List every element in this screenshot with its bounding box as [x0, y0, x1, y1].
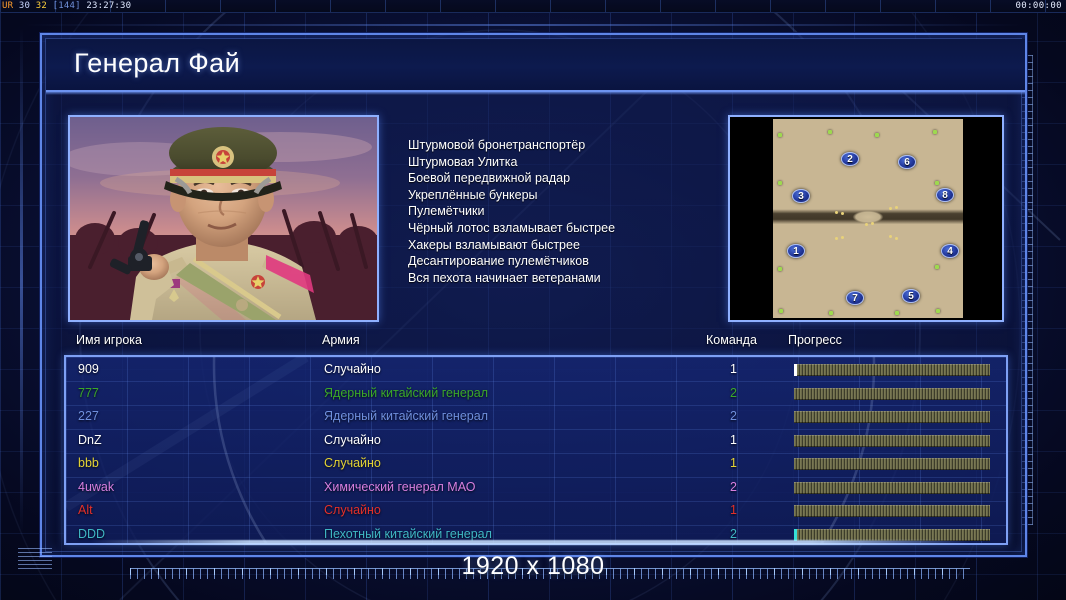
map-gold-marker [895, 237, 898, 240]
map-resource-marker [935, 181, 939, 185]
map-gold-marker [835, 237, 838, 240]
progress-bar-tip [794, 529, 797, 541]
map-gold-marker [889, 207, 892, 210]
player-name: bbb [78, 456, 99, 470]
column-header-player-name: Имя игрока [76, 333, 142, 347]
player-table: 909Случайно1777Ядерный китайский генерал… [64, 355, 1008, 545]
map-gold-marker [841, 212, 844, 215]
fps-value: 30 [19, 1, 30, 11]
map-start-position-8[interactable]: 8 [936, 188, 954, 202]
map-gold-marker [889, 235, 892, 238]
map-gold-marker [895, 206, 898, 209]
player-progress-bar [794, 411, 990, 423]
map-start-position-4[interactable]: 4 [941, 244, 959, 258]
player-army[interactable]: Ядерный китайский генерал [324, 409, 488, 423]
player-army[interactable]: Ядерный китайский генерал [324, 386, 488, 400]
map-resource-marker [895, 311, 899, 315]
player-army[interactable]: Случайно [324, 433, 381, 447]
ability-item: Пулемётчики [408, 203, 738, 220]
general-portrait-image [70, 117, 377, 320]
player-table-header: Имя игрока Армия Команда Прогресс [68, 333, 1004, 355]
map-river [773, 203, 963, 231]
ability-item: Штурмовой бронетранспортёр [408, 137, 738, 154]
main-panel: Генерал Фай [40, 33, 1027, 557]
bottom-sheen-decoration [90, 540, 970, 545]
map-resource-marker [779, 309, 783, 313]
table-row[interactable]: DnZСлучайно1 [66, 430, 1006, 454]
player-progress-bar [794, 435, 990, 447]
map-resource-marker [829, 311, 833, 315]
map-gold-marker [835, 211, 838, 214]
map-resource-marker [933, 130, 937, 134]
table-row[interactable]: 909Случайно1 [66, 359, 1006, 383]
map-resource-marker [778, 267, 782, 271]
map-start-position-6[interactable]: 6 [898, 155, 916, 169]
top-status-bar: UR 30 32 [144] 23:27:30 00:00:00 [0, 0, 1066, 13]
map-resource-marker [935, 265, 939, 269]
ability-item: Боевой передвижной радар [408, 170, 738, 187]
table-row[interactable]: 777Ядерный китайский генерал2 [66, 383, 1006, 407]
map-preview[interactable]: 12345678 [728, 115, 1004, 322]
player-progress-bar [794, 529, 990, 541]
general-portrait [68, 115, 379, 322]
fps-value-secondary: 32 [36, 1, 47, 11]
map-gold-marker [841, 236, 844, 239]
player-name: DnZ [78, 433, 102, 447]
player-army[interactable]: Пехотный китайский генерал [324, 527, 492, 541]
player-name: Alt [78, 503, 93, 517]
ability-item: Штурмовая Улитка [408, 154, 738, 171]
system-clock: 23:27:30 [86, 1, 131, 11]
player-progress-bar [794, 388, 990, 400]
player-team[interactable]: 1 [730, 503, 737, 517]
player-progress-bar [794, 364, 990, 376]
player-name: 4uwak [78, 480, 114, 494]
player-team[interactable]: 1 [730, 456, 737, 470]
game-lobby-screen: UR 30 32 [144] 23:27:30 00:00:00 Генерал… [0, 0, 1066, 600]
fps-bracket-value: [144] [53, 1, 81, 11]
player-name: DDD [78, 527, 105, 541]
map-resource-marker [875, 133, 879, 137]
progress-bar-tip [794, 364, 797, 376]
general-info-row: Штурмовой бронетранспортёр Штурмовая Ули… [68, 115, 1004, 323]
ability-item: Чёрный лотос взламывает быстрее [408, 220, 738, 237]
player-army[interactable]: Химический генерал МАО [324, 480, 475, 494]
resolution-label: 1920 x 1080 [0, 552, 1066, 581]
column-header-progress: Прогресс [788, 333, 842, 347]
player-progress-bar [794, 482, 990, 494]
topbar-tick-marks [0, 0, 1066, 12]
fps-label: UR [2, 1, 13, 11]
title-band: Генерал Фай [46, 39, 1025, 92]
player-team[interactable]: 2 [730, 409, 737, 423]
player-team[interactable]: 2 [730, 480, 737, 494]
map-resource-marker [828, 130, 832, 134]
fps-counter: UR 30 32 [144] 23:27:30 [2, 0, 131, 13]
player-name: 777 [78, 386, 99, 400]
map-gold-marker [865, 223, 868, 226]
player-army[interactable]: Случайно [324, 362, 381, 376]
player-row-list: 909Случайно1777Ядерный китайский генерал… [66, 357, 1006, 543]
player-name: 909 [78, 362, 99, 376]
player-team[interactable]: 1 [730, 362, 737, 376]
page-title: Генерал Фай [74, 48, 240, 79]
table-row[interactable]: AltСлучайно1 [66, 500, 1006, 524]
ability-item: Хакеры взламывают быстрее [408, 237, 738, 254]
player-team[interactable]: 2 [730, 527, 737, 541]
player-army[interactable]: Случайно [324, 456, 381, 470]
player-name: 227 [78, 409, 99, 423]
general-abilities-list: Штурмовой бронетранспортёр Штурмовая Ули… [408, 137, 738, 286]
map-resource-marker [778, 133, 782, 137]
player-progress-bar [794, 458, 990, 470]
table-row[interactable]: bbbСлучайно1 [66, 453, 1006, 477]
table-row[interactable]: 4uwakХимический генерал МАО2 [66, 477, 1006, 501]
map-gold-marker [871, 222, 874, 225]
player-team[interactable]: 2 [730, 386, 737, 400]
map-start-position-2[interactable]: 2 [841, 152, 859, 166]
ability-item: Вся пехота начинает ветеранами [408, 270, 738, 287]
top-rail-decoration [24, 24, 1024, 26]
map-start-position-5[interactable]: 5 [902, 289, 920, 303]
map-start-position-3[interactable]: 3 [792, 189, 810, 203]
map-start-position-1[interactable]: 1 [787, 244, 805, 258]
map-resource-marker [936, 309, 940, 313]
match-timer: 00:00:00 [1015, 0, 1062, 13]
ability-item: Укреплённые бункеры [408, 187, 738, 204]
column-header-army: Армия [322, 333, 360, 347]
player-team[interactable]: 1 [730, 433, 737, 447]
column-header-team: Команда [706, 333, 757, 347]
player-army[interactable]: Случайно [324, 503, 381, 517]
map-start-position-7[interactable]: 7 [846, 291, 864, 305]
map-resource-marker [778, 181, 782, 185]
table-row[interactable]: 227Ядерный китайский генерал2 [66, 406, 1006, 430]
left-rail-decoration [20, 28, 23, 534]
ability-item: Десантирование пулемётчиков [408, 253, 738, 270]
player-progress-bar [794, 505, 990, 517]
map-inner: 12345678 [730, 117, 1004, 320]
